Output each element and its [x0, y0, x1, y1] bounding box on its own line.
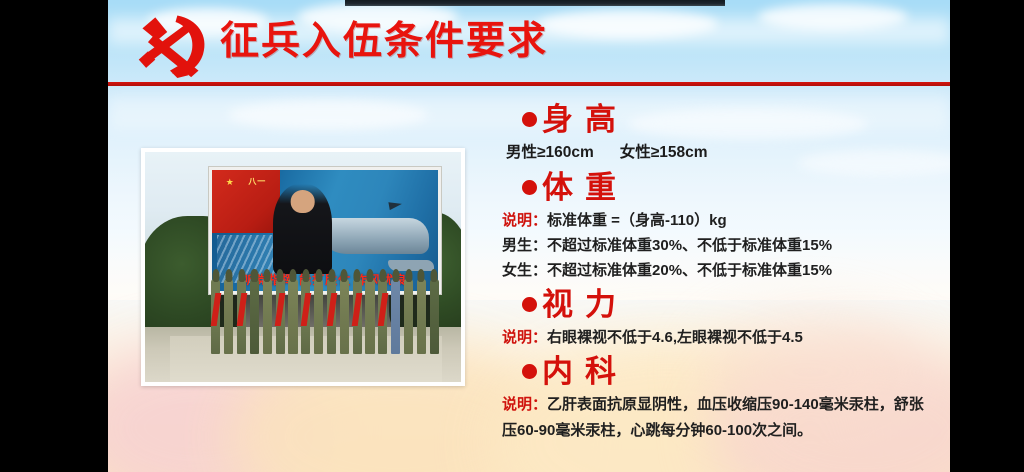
hammer-and-sickle-icon	[124, 10, 216, 78]
letterbox-left	[0, 0, 108, 472]
bullet-dot-icon	[522, 297, 537, 312]
section-height: 身高 男性≥160cm女性≥158cm	[500, 100, 930, 166]
height-female: 女性≥158cm	[620, 144, 708, 161]
height-values: 男性≥160cm女性≥158cm	[500, 140, 930, 166]
note-label: 说明：	[502, 329, 547, 346]
bayi-label: 八一	[248, 177, 266, 187]
billboard-photo: ★ 八一 听党指挥 能打胜仗 作风优良	[141, 148, 465, 386]
vision-note: 说明：右眼裸视不低于4.6,左眼裸视不低于4.5	[500, 325, 930, 350]
star-icon: ★	[226, 178, 234, 187]
weight-male-line: 男生：不超过标准体重30%、不低于标准体重15%	[500, 233, 930, 258]
page-title: 征兵入伍条件要求	[220, 14, 548, 70]
section-vision: 视力 说明：右眼裸视不低于4.6,左眼裸视不低于4.5	[500, 285, 930, 350]
slide-header: 征兵入伍条件要求	[108, 0, 950, 86]
section-weight-heading: 体重	[500, 168, 930, 208]
internal-medicine-note: 说明：乙肝表面抗原显阴性，血压收缩压90-140毫米汞柱，舒张压60-90毫米汞…	[500, 392, 930, 444]
soldier-row	[211, 276, 439, 354]
weight-female-line: 女生：不超过标准体重20%、不低于标准体重15%	[500, 258, 930, 283]
letterbox-right	[950, 0, 1024, 472]
section-internal-medicine-heading: 内科	[500, 352, 930, 392]
weight-female-label: 女生：	[502, 262, 547, 279]
note-label: 说明：	[502, 396, 547, 413]
slide-root: 征兵入伍条件要求 ★ 八一	[0, 0, 1024, 472]
weight-note: 说明：标准体重 =（身高-110）kg	[500, 208, 930, 233]
height-male: 男性≥160cm	[506, 144, 594, 161]
bullet-dot-icon	[522, 112, 537, 127]
weight-female-text: 不超过标准体重20%、不低于标准体重15%	[547, 262, 832, 279]
requirements-content: 身高 男性≥160cm女性≥158cm 体重 说明：标准体重 =（身高-110）…	[500, 100, 930, 446]
slide-canvas: 征兵入伍条件要求 ★ 八一	[108, 0, 950, 472]
weight-male-label: 男生：	[502, 237, 547, 254]
bullet-dot-icon	[522, 180, 537, 195]
section-height-heading: 身高	[500, 100, 930, 140]
section-vision-heading: 视力	[500, 285, 930, 325]
note-label: 说明：	[502, 212, 547, 229]
note-text: 标准体重 =（身高-110）kg	[547, 212, 727, 229]
note-text: 右眼裸视不低于4.6,左眼裸视不低于4.5	[547, 329, 803, 346]
note-text: 乙肝表面抗原显阴性，血压收缩压90-140毫米汞柱，舒张压60-90毫米汞柱，心…	[502, 396, 924, 439]
weight-male-text: 不超过标准体重30%、不低于标准体重15%	[547, 237, 832, 254]
bullet-dot-icon	[522, 364, 537, 379]
header-divider	[108, 82, 950, 86]
top-dark-strip	[345, 0, 725, 6]
section-weight: 体重 说明：标准体重 =（身高-110）kg 男生：不超过标准体重30%、不低于…	[500, 168, 930, 283]
section-internal-medicine: 内科 说明：乙肝表面抗原显阴性，血压收缩压90-140毫米汞柱，舒张压60-90…	[500, 352, 930, 444]
